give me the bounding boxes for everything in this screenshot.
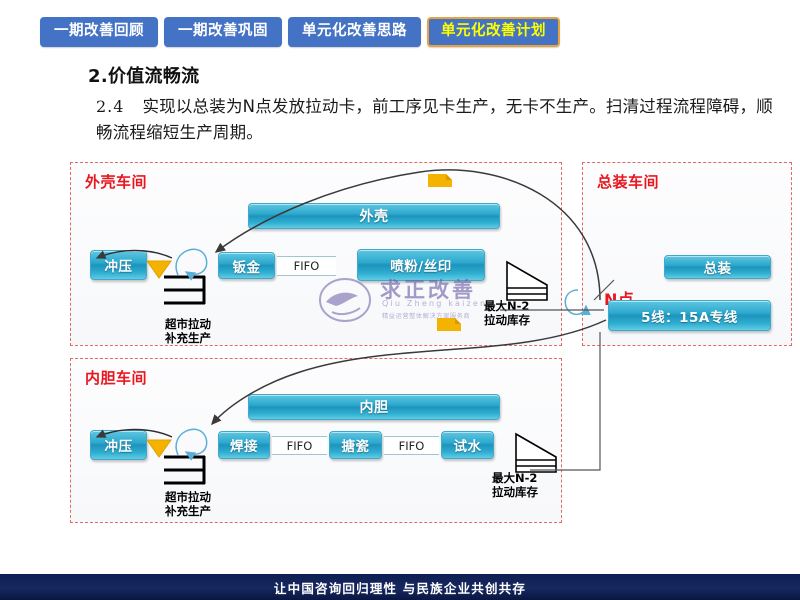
fifo-lane-liner-2: FIFO	[384, 436, 439, 455]
pull-triangle-icon-liner	[146, 438, 172, 462]
box-liner-stream[interactable]: 内胆	[248, 394, 500, 420]
supermarket-caption-liner-line1: 超市拉动	[148, 491, 228, 505]
watermark-subtitle: Qiu Zheng kaizen	[382, 299, 487, 308]
fifo-lane-liner-1: FIFO	[272, 436, 327, 455]
body-paragraph-number: 2.4	[96, 97, 124, 116]
tab-cell-improvement-plan[interactable]: 单元化改善计划	[427, 17, 560, 47]
inventory-caption-liner-line2: 拉动库存	[492, 486, 538, 500]
supermarket-caption-liner: 超市拉动 补充生产	[148, 491, 228, 519]
panel-title-shell: 外壳车间	[85, 171, 147, 192]
box-liner-watertest[interactable]: 试水	[441, 431, 494, 459]
panel-title-assembly: 总装车间	[597, 171, 659, 192]
box-liner-welding[interactable]: 焊接	[218, 431, 270, 459]
fifo-lane-shell: FIFO	[277, 256, 336, 276]
kanban-card-icon-shell	[428, 172, 452, 192]
tab-phase1-consolidation[interactable]: 一期改善巩固	[164, 17, 282, 47]
slide-footer: 让中国咨询回归理性 与民族企业共创共存	[0, 574, 800, 600]
supermarket-caption-shell-line1: 超市拉动	[148, 318, 228, 332]
box-shell-stamping[interactable]: 冲压	[90, 250, 147, 280]
body-paragraph-text: 实现以总装为N点发放拉动卡，前工序见卡生产，无卡不生产。扫清过程流程障碍，顺畅流…	[96, 97, 773, 142]
footer-text: 让中国咨询回归理性 与民族企业共创共存	[274, 578, 526, 597]
tab-phase1-review[interactable]: 一期改善回顾	[40, 17, 158, 47]
supermarket-caption-shell-line2: 补充生产	[148, 332, 228, 346]
box-shell-sheetmetal[interactable]: 钣金	[218, 252, 275, 279]
box-liner-enamel[interactable]: 搪瓷	[329, 431, 382, 459]
box-final-assembly[interactable]: 总装	[664, 255, 771, 279]
supermarket-caption-liner-line2: 补充生产	[148, 505, 228, 519]
supermarket-caption-shell: 超市拉动 补充生产	[148, 318, 228, 346]
watermark-logo: 求正改善 Qiu Zheng kaizen 精益运营整体解决方案服务商	[318, 276, 508, 328]
tab-cell-improvement-approach[interactable]: 单元化改善思路	[288, 17, 421, 47]
box-line5-15a[interactable]: 5线：15A专线	[608, 300, 771, 331]
panel-title-liner: 内胆车间	[85, 367, 147, 388]
pull-triangle-icon-shell	[146, 259, 172, 283]
body-paragraph: 2.4实现以总装为N点发放拉动卡，前工序见卡生产，无卡不生产。扫清过程流程障碍，…	[96, 94, 786, 145]
page-title: 2.价值流畅流	[88, 62, 199, 88]
box-liner-stamping[interactable]: 冲压	[90, 430, 147, 460]
section-nav-tabs: 一期改善回顾 一期改善巩固 单元化改善思路 单元化改善计划	[40, 17, 560, 47]
box-shell-stream[interactable]: 外壳	[248, 203, 500, 229]
inventory-caption-liner-line1: 最大N-2	[492, 472, 538, 486]
inventory-caption-liner: 最大N-2 拉动库存	[492, 472, 538, 500]
slide-canvas: 一期改善回顾 一期改善巩固 单元化改善思路 单元化改善计划 2.价值流畅流 2.…	[0, 0, 800, 600]
watermark-tagline: 精益运营整体解决方案服务商	[382, 311, 470, 320]
